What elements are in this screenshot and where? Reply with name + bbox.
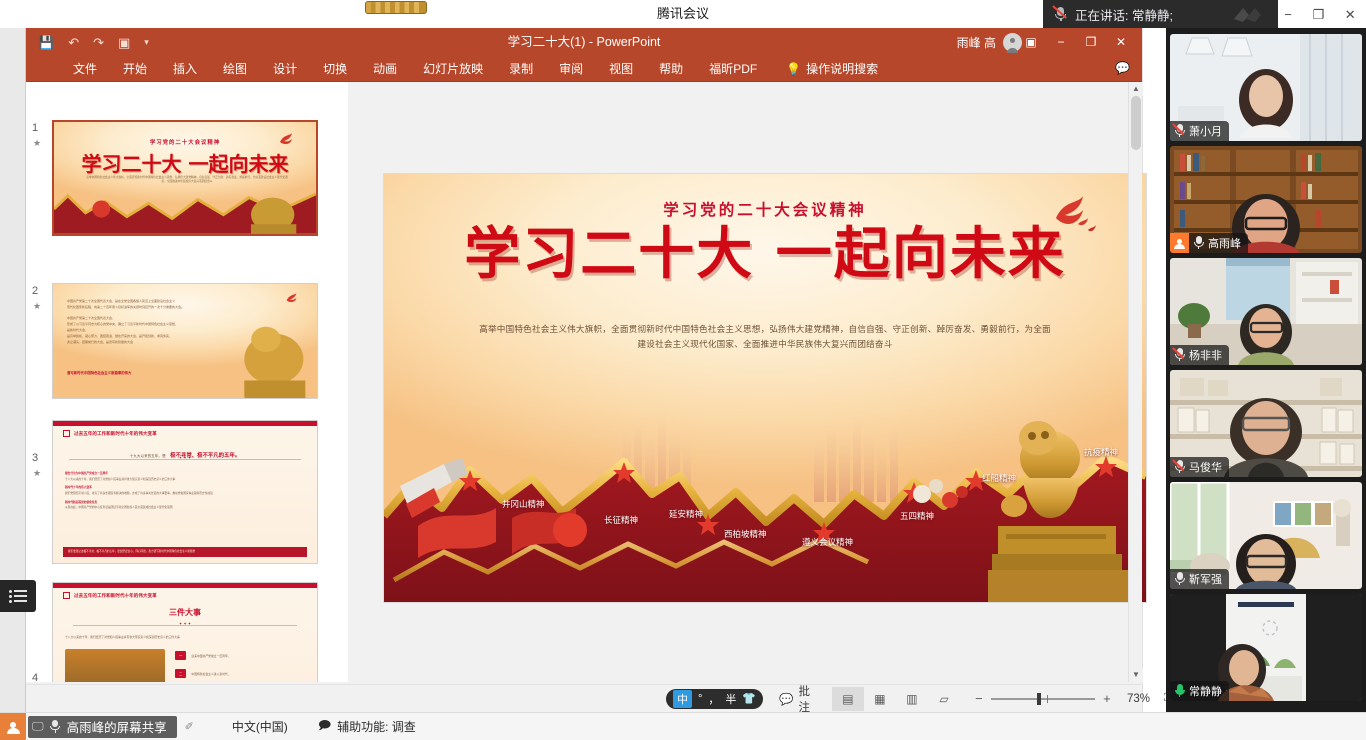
comments-button[interactable]: 💬 批注 — [779, 683, 810, 715]
slide-star-icon: ★ — [33, 468, 41, 479]
thumb3-heading: 过去五年的工作和新时代十年的伟大变革 — [74, 431, 157, 437]
tab-help[interactable]: 帮助 — [646, 56, 696, 82]
zoom-level-label[interactable]: 73% — [1127, 693, 1150, 705]
participant-name: 常静静 — [1189, 683, 1222, 699]
tm-minimize-button[interactable]: − — [1284, 8, 1292, 21]
view-buttons: ▤ ▦ ▥ ▱ — [832, 687, 960, 711]
tab-transitions[interactable]: 切换 — [310, 56, 360, 82]
slide-subtitle: 高举中国特色社会主义伟大旗帜，全面贯彻新时代中国特色社会主义思想，弘扬伟大建党精… — [479, 322, 1051, 352]
ime-punct-option[interactable]: ° — [698, 693, 702, 705]
zoom-in-button[interactable]: + — [1102, 691, 1112, 706]
thumb1-title: 学习二十大 一起向未来 — [54, 148, 316, 177]
tab-slideshow[interactable]: 幻灯片放映 — [410, 56, 496, 82]
screen-share-icon: 🖵 — [32, 719, 44, 734]
powerpoint-window: 💾 ↶ ↷ ▣ ▾ 学习二十大(1) - PowerPoint 雨峰 高 ▣ −… — [26, 28, 1142, 712]
ribbon-tab-bar: 文件 开始 插入 绘图 设计 切换 动画 幻灯片放映 录制 审阅 视图 帮助 福… — [26, 56, 1142, 82]
participant-tile[interactable]: 杨非非 — [1170, 258, 1362, 365]
tab-review[interactable]: 审阅 — [546, 56, 596, 82]
participant-name: 杨非非 — [1189, 347, 1222, 363]
slide-sorter-view-button[interactable]: ▦ — [864, 687, 896, 711]
slide-title: 学习二十大 一起向未来 — [384, 226, 1146, 285]
participant-name-bar: 马俊华 — [1170, 457, 1229, 477]
powerpoint-workspace: 1 ★ 学习党的二十大会议精神 学习二十大 一起向未来 高举中国特色社会主义伟大… — [26, 82, 1142, 712]
mic-muted-icon — [1174, 124, 1185, 138]
slide-thumbnail-pane[interactable]: 1 ★ 学习党的二十大会议精神 学习二十大 一起向未来 高举中国特色社会主义伟大… — [26, 82, 348, 682]
slide-thumbnail-4[interactable]: 过去五年的工作和新时代十年的伟大变革 三件大事 ✦ ✦ ✦ 十八大以来的十年，我… — [52, 582, 318, 682]
zoom-slider[interactable] — [991, 698, 1095, 700]
participant-tile[interactable]: 靳军强 — [1170, 482, 1362, 589]
powerpoint-status-bar: 中 ° ， 半 👕 💬 批注 ▤ ▦ ▥ ▱ − — [26, 684, 1142, 712]
badge-2: 二 — [175, 669, 186, 678]
participant-name-bar: 萧小月 — [1170, 121, 1229, 141]
mic-muted-icon — [1174, 348, 1185, 362]
thumb4-title: 三件大事 — [53, 607, 317, 618]
tab-design[interactable]: 设计 — [260, 56, 310, 82]
tab-home[interactable]: 开始 — [110, 56, 160, 82]
tab-file[interactable]: 文件 — [60, 56, 110, 82]
spirit-label-wusi: 五四精神 — [900, 510, 934, 522]
ime-width-option[interactable]: 半 — [725, 691, 736, 707]
current-slide[interactable]: 学习党的二十大会议精神 学习二十大 一起向未来 高举中国特色社会主义伟大旗帜，全… — [384, 174, 1146, 602]
scroll-up-arrow[interactable]: ▲ — [1129, 82, 1143, 96]
accessibility-label: 辅助功能: 调查 — [337, 718, 416, 735]
outline-view-overlay-icon[interactable] — [0, 580, 36, 612]
participant-tile[interactable]: 高雨峰 — [1170, 146, 1362, 253]
tencent-meeting-window-controls: − ❐ ✕ — [1274, 0, 1366, 28]
slide-number: 4 — [32, 672, 38, 682]
slide-thumbnail-1[interactable]: 学习党的二十大会议精神 学习二十大 一起向未来 高举中国特色社会主义伟大旗帜，全… — [52, 120, 318, 236]
ppt-close-button[interactable]: ✕ — [1106, 35, 1136, 49]
language-indicator[interactable]: 中文(中国) — [232, 718, 288, 735]
slide-number: 1 — [32, 122, 38, 134]
tab-foxit-pdf[interactable]: 福昕PDF — [696, 56, 770, 82]
slide-number: 2 — [32, 285, 38, 297]
mic-active-icon — [1174, 684, 1185, 698]
slide-number: 3 — [32, 452, 38, 464]
thumb4-image — [65, 649, 165, 682]
ppt-restore-button[interactable]: ❐ — [1076, 35, 1106, 49]
bullet-box-icon — [63, 430, 70, 437]
thumb1-header: 学习党的二十大会议精神 — [54, 138, 316, 146]
comment-icon[interactable]: 💬 — [1115, 61, 1130, 75]
zoom-slider-knob[interactable] — [1037, 693, 1041, 705]
participant-name-bar: 杨非非 — [1170, 345, 1229, 365]
tm-restore-button[interactable]: ❐ — [1313, 8, 1325, 21]
powerpoint-window-controls: ▣ − ❐ ✕ — [1016, 28, 1136, 56]
spirit-label-yanan: 延安精神 — [669, 508, 703, 520]
spirit-label-changzheng: 长征精神 — [604, 514, 638, 526]
slide-star-icon: ★ — [33, 138, 41, 149]
accessibility-indicator[interactable]: 🗩 辅助功能: 调查 — [318, 716, 416, 737]
participant-tile-active-speaker[interactable]: 常静静 — [1170, 594, 1362, 701]
windows-taskbar: 🖵 高雨峰的屏幕共享 ✐ 中文(中国) 🗩 辅助功能: 调查 — [0, 712, 1366, 740]
thumb2-highlight: 谱写新时代中国特色社会主义新篇章的伟大 — [67, 370, 131, 375]
participant-tile[interactable]: 马俊华 — [1170, 370, 1362, 477]
ime-comma-option[interactable]: ， — [708, 691, 719, 707]
participant-name-bar: 常静静 — [1170, 681, 1229, 701]
window-drag-handle[interactable] — [365, 1, 427, 14]
thumb4-intro: 十八大以来的十年，我们经历了对党和人民事业具有重大现实意义和深远历史意义的三件大… — [65, 635, 305, 639]
zoom-control[interactable]: − + 73% — [974, 691, 1150, 706]
spirit-label-xibaipo: 西柏坡精神 — [724, 528, 767, 540]
bullet-box-icon — [63, 592, 70, 599]
participant-name: 高雨峰 — [1208, 235, 1241, 251]
participant-name: 靳军强 — [1189, 571, 1222, 587]
tab-record[interactable]: 录制 — [496, 56, 546, 82]
participant-video-strip: 萧小月 — [1166, 28, 1366, 722]
item-2: 中国特色社会主义进入新时代， — [191, 672, 230, 676]
scrollbar-thumb[interactable] — [1131, 96, 1141, 150]
spirit-label-jinggangshan: 井冈山精神 — [502, 498, 545, 510]
dove-icon — [278, 132, 300, 155]
mic-icon — [1193, 236, 1204, 250]
mic-icon — [1174, 572, 1185, 586]
ppt-minimize-button[interactable]: − — [1046, 35, 1076, 49]
reading-view-button[interactable]: ▥ — [896, 687, 928, 711]
tab-animations[interactable]: 动画 — [360, 56, 410, 82]
tab-view[interactable]: 视图 — [596, 56, 646, 82]
tencent-meeting-logo — [1230, 5, 1274, 24]
participant-tile[interactable]: 萧小月 — [1170, 34, 1362, 141]
lightbulb-icon: 💡 — [786, 62, 801, 76]
speaking-label: 正在讲话: 常静静; — [1075, 5, 1173, 24]
participant-name-bar: 靳军强 — [1170, 569, 1229, 589]
pen-icon[interactable]: ✐ — [185, 720, 194, 733]
comment-icon: 💬 — [779, 692, 793, 706]
thumb1-subtitle: 高举中国特色社会主义伟大旗帜，全面贯彻新时代中国特色社会主义思想，弘扬伟大建党精… — [84, 176, 290, 185]
thumb4-heading: 过去五年的工作和新时代十年的伟大变革 — [74, 593, 157, 599]
spirit-label-hongchuan: 红船精神 — [982, 472, 1016, 484]
dove-icon — [285, 292, 303, 312]
tab-insert[interactable]: 插入 — [160, 56, 210, 82]
powerpoint-titlebar: 💾 ↶ ↷ ▣ ▾ 学习二十大(1) - PowerPoint 雨峰 高 ▣ −… — [26, 28, 1142, 56]
mic-muted-icon — [1054, 6, 1068, 22]
spirit-label-zunyi: 遵义会议精神 — [802, 536, 853, 548]
slide-landscape-art — [384, 366, 1146, 602]
ribbon-tabs: 文件 开始 插入 绘图 设计 切换 动画 幻灯片放映 录制 审阅 视图 帮助 福… — [26, 56, 1142, 82]
slide-thumbnail-2[interactable]: 中国共产党第二十次全国代表大会，是在全党全国各族人民迈上全面建设社会主义 现代化… — [52, 283, 318, 399]
screen-share-label: 高雨峰的屏幕共享 — [67, 717, 167, 736]
host-badge-icon — [1170, 233, 1189, 253]
accessibility-icon: 🗩 — [318, 716, 331, 737]
account-name: 雨峰 高 — [957, 34, 996, 51]
tell-me-search[interactable]: 💡 操作说明搜索 — [786, 56, 878, 82]
screen-share-indicator[interactable]: 🖵 高雨峰的屏幕共享 — [28, 716, 177, 738]
mic-muted-icon — [1174, 460, 1185, 474]
spirit-label-kangyi: 抗疫精神 — [1084, 446, 1118, 458]
participant-name: 萧小月 — [1189, 123, 1222, 139]
user-avatar-icon[interactable] — [0, 713, 26, 740]
slide-star-icon: ★ — [33, 301, 41, 312]
slide-thumbnail-3[interactable]: 过去五年的工作和新时代十年的伟大变革 十九大以来的五年，是 极不寻常、极不平凡的… — [52, 420, 318, 564]
badge-1: 一 — [175, 651, 186, 660]
comments-label: 批注 — [798, 683, 810, 715]
ime-mode[interactable]: 中 — [673, 690, 692, 708]
slideshow-view-button[interactable]: ▱ — [928, 687, 960, 711]
zoom-slider-tick — [1047, 695, 1048, 703]
tab-draw[interactable]: 绘图 — [210, 56, 260, 82]
participant-name: 马俊华 — [1189, 459, 1222, 475]
slide-header: 学习党的二十大会议精神 — [384, 198, 1146, 220]
tell-me-label: 操作说明搜索 — [806, 56, 878, 82]
thumb2-body: 中国共产党第二十次全国代表大会，是在全党全国各族人民迈上全面建设社会主义 现代化… — [67, 298, 267, 345]
participant-name-bar: 高雨峰 — [1170, 233, 1248, 253]
mic-icon — [50, 720, 61, 734]
thumb3-footer: 我们要铭记这极不寻常、极不平凡的五年，更加坚定信心、同心同德，奋力谱写新时代中国… — [63, 547, 307, 557]
ime-tool-icon[interactable]: 👕 — [742, 692, 756, 705]
tm-close-button[interactable]: ✕ — [1345, 8, 1356, 21]
normal-view-button[interactable]: ▤ — [832, 687, 864, 711]
scroll-down-arrow[interactable]: ▼ — [1129, 668, 1143, 682]
ribbon-display-options-icon[interactable]: ▣ — [1016, 35, 1046, 49]
item-1: 迎来中国共产党成立一百周年， — [191, 654, 230, 658]
ime-indicator[interactable]: 中 ° ， 半 👕 — [666, 689, 763, 709]
vertical-scrollbar[interactable]: ▲ ▼ — [1128, 82, 1142, 682]
slide-editing-canvas[interactable]: 学习党的二十大会议精神 学习二十大 一起向未来 高举中国特色社会主义伟大旗帜，全… — [348, 82, 1128, 682]
account-area[interactable]: 雨峰 高 — [957, 28, 1022, 56]
zoom-out-button[interactable]: − — [974, 691, 984, 706]
